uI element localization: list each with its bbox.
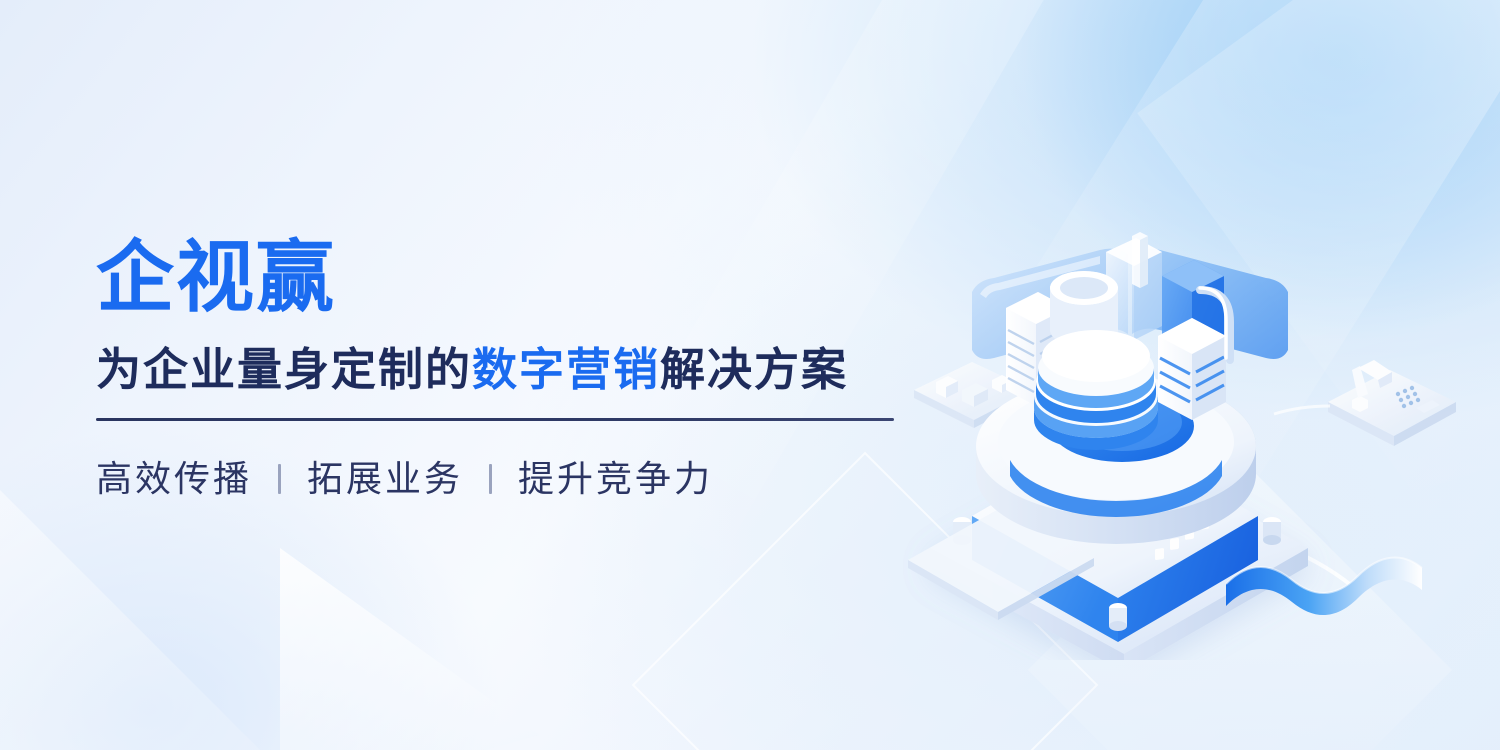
headline-prefix: 为企业量身定制的	[96, 344, 472, 395]
hero-text-block: 企视赢 为企业量身定制的数字营销解决方案 高效传播 拓展业务 提升竞争力	[96, 236, 916, 501]
tagline-separator-icon-1	[278, 464, 281, 494]
tagline: 高效传播 拓展业务 提升竞争力	[96, 457, 916, 501]
stacked-disc-tower	[1034, 330, 1158, 450]
robot-arm-tile-right	[1328, 360, 1456, 446]
tagline-item-3: 提升竞争力	[518, 457, 713, 501]
background-triangle-b	[280, 548, 540, 750]
city-buildings	[1006, 232, 1230, 450]
hero-illustration	[900, 230, 1480, 660]
headline-accent: 数字营销	[472, 344, 660, 395]
hero-banner: 企视赢 为企业量身定制的数字营销解决方案 高效传播 拓展业务 提升竞争力	[0, 0, 1500, 750]
section-divider	[96, 418, 894, 421]
tagline-separator-icon-2	[489, 464, 492, 494]
headline: 为企业量身定制的数字营销解决方案	[96, 344, 916, 396]
brand-title: 企视赢	[96, 236, 916, 318]
tagline-item-2: 拓展业务	[307, 457, 463, 501]
tagline-item-1: 高效传播	[96, 457, 252, 501]
background-triangle-c	[0, 520, 340, 750]
headline-suffix: 解决方案	[660, 344, 848, 395]
